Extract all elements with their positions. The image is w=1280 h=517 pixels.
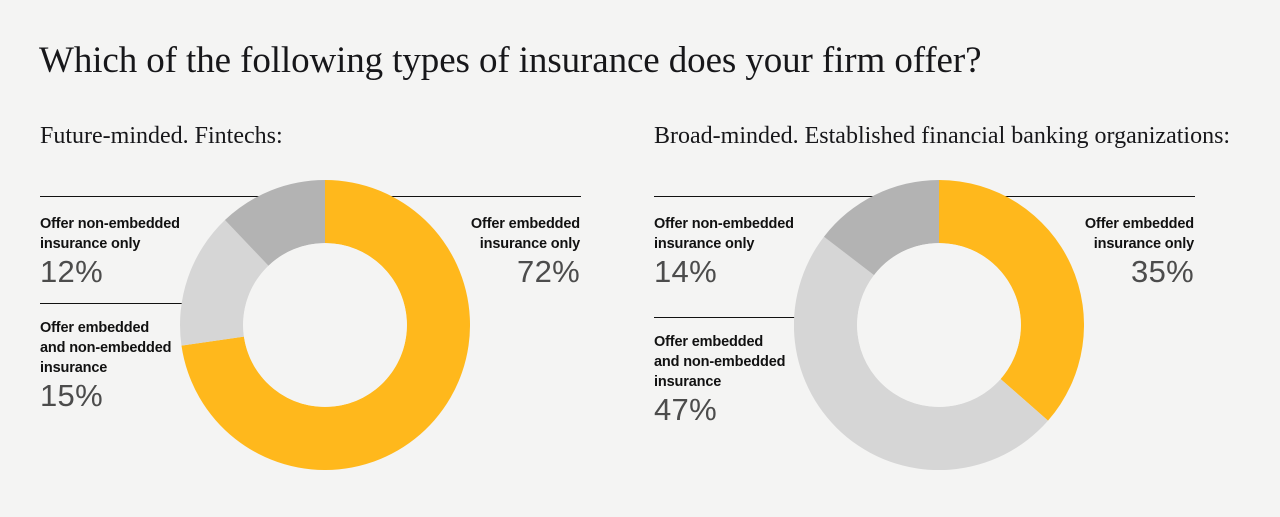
callout-non-embedded-only: Offer non-embedded insurance only 14%	[654, 214, 864, 290]
callout-label-line1: Offer embedded	[40, 318, 255, 338]
callout-both: Offer embedded and non-embedded insuranc…	[654, 332, 869, 428]
donut-hole	[243, 243, 407, 407]
callout-label-line1: Offer embedded	[654, 332, 869, 352]
callout-value: 15%	[40, 379, 255, 414]
donut-hole	[857, 243, 1021, 407]
callout-non-embedded-only: Offer non-embedded insurance only 12%	[40, 214, 250, 290]
callout-label-line2: insurance only	[654, 234, 864, 254]
panel-subtitle: Future-minded. Fintechs:	[40, 123, 283, 149]
callout-value: 12%	[40, 255, 250, 290]
callout-label-line2: and non-embedded	[40, 338, 255, 358]
panel-established-banks: Broad-minded. Established financial bank…	[614, 0, 1234, 517]
callout-label-line1: Offer embedded	[408, 214, 580, 234]
callout-embedded-only: Offer embedded insurance only 35%	[1022, 214, 1194, 290]
panel-subtitle: Broad-minded. Established financial bank…	[654, 123, 1230, 149]
callout-label-line1: Offer embedded	[1022, 214, 1194, 234]
panel-fintechs: Future-minded. Fintechs: Offer non-embed…	[0, 0, 620, 517]
callout-value: 35%	[1022, 255, 1194, 290]
chart-page: Which of the following types of insuranc…	[0, 0, 1280, 517]
leader-line-both	[40, 303, 203, 304]
callout-both: Offer embedded and non-embedded insuranc…	[40, 318, 255, 414]
callout-value: 14%	[654, 255, 864, 290]
callout-label-line3: insurance	[654, 372, 869, 392]
callout-label-line2: and non-embedded	[654, 352, 869, 372]
callout-value: 47%	[654, 393, 869, 428]
callout-label-line2: insurance only	[40, 234, 250, 254]
callout-value: 72%	[408, 255, 580, 290]
callout-label-line1: Offer non-embedded	[654, 214, 864, 234]
callout-label-line2: insurance only	[408, 234, 580, 254]
callout-label-line1: Offer non-embedded	[40, 214, 250, 234]
callout-label-line2: insurance only	[1022, 234, 1194, 254]
callout-label-line3: insurance	[40, 358, 255, 378]
callout-embedded-only: Offer embedded insurance only 72%	[408, 214, 580, 290]
